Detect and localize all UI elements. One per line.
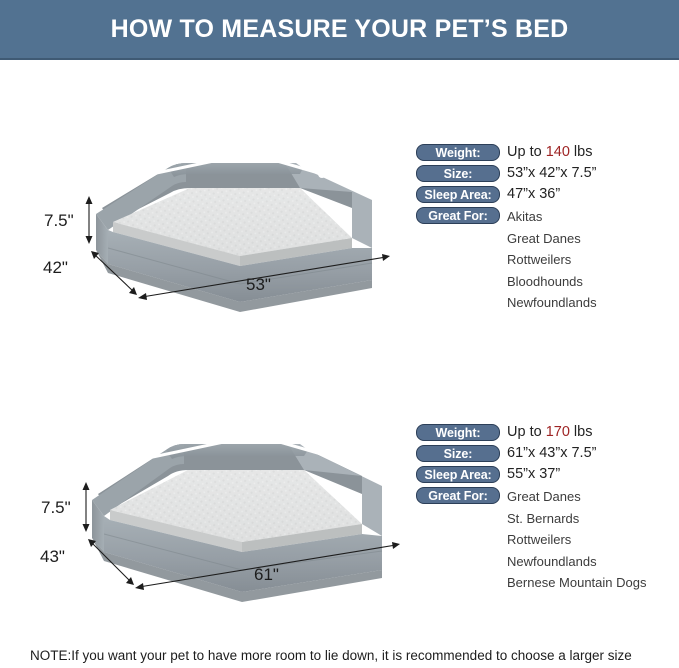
spec-label-sleep-area: Sleep Area:	[416, 466, 500, 483]
weight-value: 170	[546, 424, 570, 440]
spec-list-bed-large: Weight: Up to 140 lbs Size: 53”x 42”x 7.…	[416, 142, 679, 314]
breed-item: Akitas	[507, 206, 679, 228]
weight-suffix: lbs	[570, 424, 593, 440]
sleep-width-label-large: 36"	[280, 146, 299, 160]
page-header-banner: HOW TO MEASURE YOUR PET’S BED	[0, 0, 679, 60]
spec-value-sleep-area: 47”x 36”	[507, 184, 560, 204]
spec-row-sleep-area: Sleep Area: 55”x 37”	[416, 464, 679, 485]
depth-label-large: 42"	[43, 258, 68, 277]
height-label-large: 7.5"	[44, 211, 74, 230]
spec-value-sleep-area: 55”x 37”	[507, 464, 560, 484]
weight-suffix: lbs	[570, 144, 593, 160]
spec-label-sleep-area: Sleep Area:	[416, 186, 500, 203]
spec-label-great-for: Great For:	[416, 207, 500, 224]
spec-row-size: Size: 53”x 42”x 7.5”	[416, 163, 679, 184]
breed-item: Bernese Mountain Dogs	[507, 572, 679, 594]
breed-item: Great Danes	[507, 486, 679, 508]
product-section-bed-xlarge: 55" 37" 7.5" 43" 61" Weight: Up to 170 l…	[0, 410, 679, 625]
width-label-large: 53"	[246, 275, 271, 294]
sleep-length-label-large: 47"	[156, 151, 175, 165]
product-section-bed-large: 47" 36" 7.5" 42" 53" Weight: Up to 140 l…	[0, 130, 679, 340]
breed-list-bed-xlarge: Great Danes St. Bernards Rottweilers New…	[507, 486, 679, 594]
sleep-length-label-xlarge: 55"	[155, 433, 174, 447]
weight-prefix: Up to	[507, 424, 546, 440]
breed-item: Rottweilers	[507, 529, 679, 551]
sleep-width-label-xlarge: 37"	[291, 429, 310, 443]
bed-illustration-large: 47" 36" 7.5" 42" 53"	[0, 130, 410, 330]
breed-item: Great Danes	[507, 228, 679, 250]
spec-row-weight: Weight: Up to 170 lbs	[416, 422, 679, 443]
spec-label-weight: Weight:	[416, 144, 500, 161]
spec-label-size: Size:	[416, 445, 500, 462]
spec-label-size: Size:	[416, 165, 500, 182]
spec-value-size: 53”x 42”x 7.5”	[507, 163, 596, 183]
height-label-xlarge: 7.5"	[41, 498, 71, 517]
spec-value-weight: Up to 170 lbs	[507, 422, 592, 442]
breed-item: St. Bernards	[507, 508, 679, 530]
breed-list-bed-large: Akitas Great Danes Rottweilers Bloodhoun…	[507, 206, 679, 314]
page-title: HOW TO MEASURE YOUR PET’S BED	[111, 15, 569, 44]
bed-illustration-xlarge: 55" 37" 7.5" 43" 61"	[0, 410, 410, 610]
depth-label-xlarge: 43"	[40, 547, 65, 566]
breed-item: Rottweilers	[507, 249, 679, 271]
weight-value: 140	[546, 144, 570, 160]
breed-item: Newfoundlands	[507, 551, 679, 573]
weight-prefix: Up to	[507, 144, 546, 160]
spec-label-weight: Weight:	[416, 424, 500, 441]
footer-note: NOTE:If you want your pet to have more r…	[30, 648, 632, 663]
width-label-xlarge: 61"	[254, 565, 279, 584]
spec-row-size: Size: 61”x 43”x 7.5”	[416, 443, 679, 464]
spec-label-great-for: Great For:	[416, 487, 500, 504]
spec-row-weight: Weight: Up to 140 lbs	[416, 142, 679, 163]
breed-item: Bloodhounds	[507, 271, 679, 293]
spec-row-sleep-area: Sleep Area: 47”x 36”	[416, 184, 679, 205]
breed-item: Newfoundlands	[507, 292, 679, 314]
spec-value-weight: Up to 140 lbs	[507, 142, 592, 162]
spec-value-size: 61”x 43”x 7.5”	[507, 443, 596, 463]
spec-list-bed-xlarge: Weight: Up to 170 lbs Size: 61”x 43”x 7.…	[416, 422, 679, 594]
